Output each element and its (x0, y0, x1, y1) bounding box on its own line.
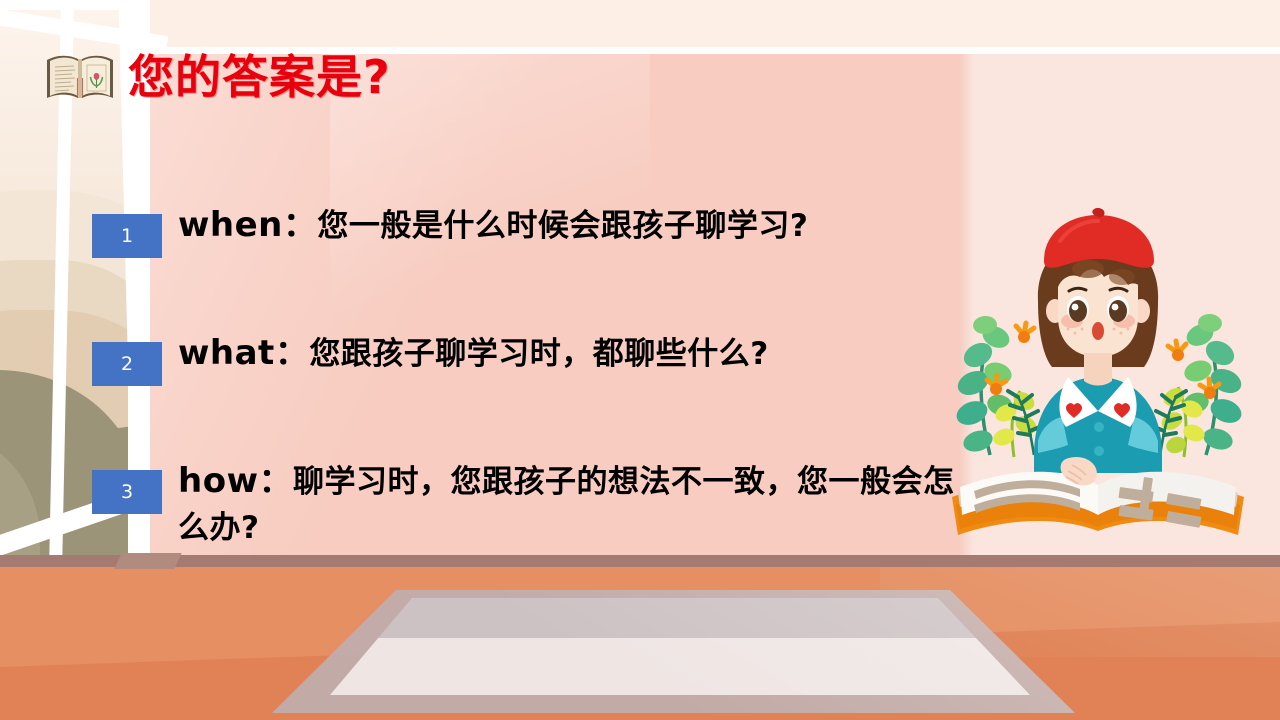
rug (0, 568, 1280, 720)
question-list: 1 when：您一般是什么时候会跟孩子聊学习? 2 what：您跟孩子聊学习时，… (92, 200, 972, 552)
question-keyword-3: how： (178, 461, 293, 501)
question-text-1: when：您一般是什么时候会跟孩子聊学习? (178, 200, 808, 250)
question-body-2: 您跟孩子聊学习时，都聊些什么? (309, 336, 768, 372)
question-row-3: 3 how：聊学习时，您跟孩子的想法不一致，您一般会怎么办? (92, 456, 972, 552)
flower-right-upper (1168, 341, 1186, 361)
girl-reading-book-illustration (938, 205, 1258, 555)
question-number-badge: 3 (92, 470, 162, 514)
rug-gloss (0, 568, 1280, 720)
baseboard-left-return (114, 553, 181, 569)
page-title: 您的答案是? (44, 48, 391, 106)
page-title-text: 您的答案是? (128, 54, 391, 100)
question-number-badge: 1 (92, 214, 162, 258)
slide-root: 您的答案是? 1 when：您一般是什么时候会跟孩子聊学习? 2 what：您跟… (0, 0, 1280, 720)
question-number-badge: 2 (92, 342, 162, 386)
open-book-icon (44, 48, 116, 106)
question-text-2: what：您跟孩子聊学习时，都聊些什么? (178, 328, 769, 378)
flower-left-upper (1016, 323, 1034, 343)
question-body-1: 您一般是什么时候会跟孩子聊学习? (317, 208, 808, 244)
mouth (1092, 322, 1104, 340)
question-keyword-1: when： (178, 205, 317, 245)
question-keyword-2: what： (178, 333, 309, 373)
question-body-3: 聊学习时，您跟孩子的想法不一致，您一般会怎么办? (178, 464, 954, 546)
question-row-1: 1 when：您一般是什么时候会跟孩子聊学习? (92, 200, 972, 258)
question-text-3: how：聊学习时，您跟孩子的想法不一致，您一般会怎么办? (178, 456, 972, 552)
question-row-2: 2 what：您跟孩子聊学习时，都聊些什么? (92, 328, 972, 386)
